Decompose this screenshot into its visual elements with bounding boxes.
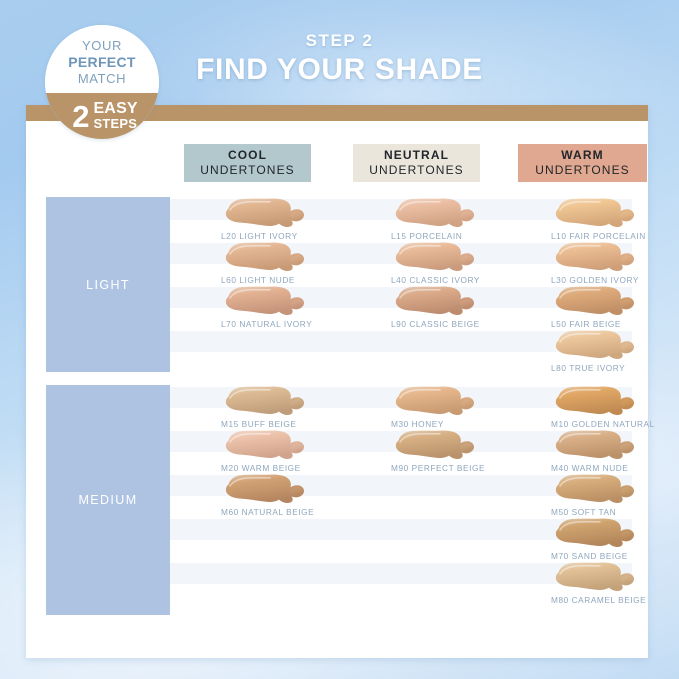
shade-cell[interactable]: M80 CARAMEL BEIGE — [551, 561, 679, 605]
shade-cell[interactable]: L50 FAIR BEIGE — [551, 285, 679, 329]
undertone-header-row: COOL UNDERTONES NEUTRAL UNDERTONES WARM … — [26, 144, 648, 184]
shade-cell[interactable]: L20 LIGHT IVORY — [221, 197, 356, 241]
undertone-header-warm: WARM UNDERTONES — [518, 144, 647, 182]
undertone-header-cool: COOL UNDERTONES — [184, 144, 311, 182]
swatch-icon — [391, 385, 491, 417]
swatch-icon — [391, 285, 491, 317]
shade-label: M40 WARM NUDE — [551, 463, 679, 473]
shade-cell[interactable]: M15 BUFF BEIGE — [221, 385, 356, 429]
shade-label: M15 BUFF BEIGE — [221, 419, 356, 429]
shade-cell[interactable]: M20 WARM BEIGE — [221, 429, 356, 473]
shade-cell[interactable]: M40 WARM NUDE — [551, 429, 679, 473]
undertone-name-warm: WARM — [561, 148, 603, 163]
shade-label: L60 LIGHT NUDE — [221, 275, 356, 285]
swatch-icon — [551, 285, 651, 317]
shade-label: M50 SOFT TAN — [551, 507, 679, 517]
shade-label: L20 LIGHT IVORY — [221, 231, 356, 241]
shade-label: M60 NATURAL BEIGE — [221, 507, 356, 517]
badge-line-2: PERFECT — [68, 54, 135, 71]
badge-bottom-half: 2 EASY STEPS — [45, 93, 159, 139]
group-block-medium: MEDIUM — [46, 385, 170, 615]
shade-label: L40 CLASSIC IVORY — [391, 275, 526, 285]
shade-label: L50 FAIR BEIGE — [551, 319, 679, 329]
swatch-icon — [551, 517, 651, 549]
undertone-sub-cool: UNDERTONES — [200, 163, 295, 178]
swatch-icon — [221, 197, 321, 229]
shade-label: L90 CLASSIC BEIGE — [391, 319, 526, 329]
shade-label: L70 NATURAL IVORY — [221, 319, 356, 329]
swatch-icon — [391, 197, 491, 229]
shade-cell[interactable]: L80 TRUE IVORY — [551, 329, 679, 373]
shade-label: M90 PERFECT BEIGE — [391, 463, 526, 473]
shade-cell[interactable]: M50 SOFT TAN — [551, 473, 679, 517]
swatch-icon — [221, 473, 321, 505]
swatch-icon — [221, 285, 321, 317]
swatch-icon — [221, 429, 321, 461]
shade-cell[interactable]: M30 HONEY — [391, 385, 526, 429]
shade-cell[interactable]: L30 GOLDEN IVORY — [551, 241, 679, 285]
badge-step-number: 2 — [72, 101, 89, 132]
undertone-sub-warm: UNDERTONES — [535, 163, 630, 178]
swatch-icon — [391, 241, 491, 273]
perfect-match-badge: YOUR PERFECT MATCH 2 EASY STEPS — [45, 25, 159, 139]
undertone-name-cool: COOL — [228, 148, 267, 163]
shade-label: L15 PORCELAIN — [391, 231, 526, 241]
badge-line-3: MATCH — [78, 71, 126, 87]
shade-cell[interactable]: M90 PERFECT BEIGE — [391, 429, 526, 473]
shade-cell[interactable]: L60 LIGHT NUDE — [221, 241, 356, 285]
swatch-icon — [551, 561, 651, 593]
swatch-icon — [551, 197, 651, 229]
swatch-icon — [551, 385, 651, 417]
shade-label: L80 TRUE IVORY — [551, 363, 679, 373]
group-block-light: LIGHT — [46, 197, 170, 372]
swatch-icon — [551, 429, 651, 461]
badge-top-half: YOUR PERFECT MATCH — [45, 25, 159, 93]
badge-word-steps: STEPS — [93, 116, 137, 131]
shade-cell[interactable]: L70 NATURAL IVORY — [221, 285, 356, 329]
shade-label: M20 WARM BEIGE — [221, 463, 356, 473]
swatch-icon — [221, 241, 321, 273]
shade-label: M10 GOLDEN NATURAL — [551, 419, 679, 429]
shade-grid: LIGHT MEDIUM L20 LIGHT IVORY L60 LIGHT N… — [26, 197, 648, 617]
undertone-sub-neutral: UNDERTONES — [369, 163, 464, 178]
shade-cell[interactable]: L90 CLASSIC BEIGE — [391, 285, 526, 329]
swatch-icon — [551, 473, 651, 505]
badge-step-words: EASY STEPS — [93, 101, 137, 131]
swatch-icon — [391, 429, 491, 461]
badge-line-1: YOUR — [82, 38, 122, 54]
shade-chart-card: COOL UNDERTONES NEUTRAL UNDERTONES WARM … — [26, 105, 648, 658]
shade-cell[interactable]: L10 FAIR PORCELAIN — [551, 197, 679, 241]
shade-label: M30 HONEY — [391, 419, 526, 429]
shade-cell[interactable]: L40 CLASSIC IVORY — [391, 241, 526, 285]
group-label-medium: MEDIUM — [78, 493, 137, 507]
shade-label: M70 SAND BEIGE — [551, 551, 679, 561]
swatch-icon — [551, 329, 651, 361]
undertone-header-neutral: NEUTRAL UNDERTONES — [353, 144, 480, 182]
badge-word-easy: EASY — [93, 101, 137, 116]
shade-label: L30 GOLDEN IVORY — [551, 275, 679, 285]
shade-cell[interactable]: L15 PORCELAIN — [391, 197, 526, 241]
shade-label: L10 FAIR PORCELAIN — [551, 231, 679, 241]
shade-cell[interactable]: M60 NATURAL BEIGE — [221, 473, 356, 517]
shade-label: M80 CARAMEL BEIGE — [551, 595, 679, 605]
swatch-icon — [221, 385, 321, 417]
shade-cell[interactable]: M10 GOLDEN NATURAL — [551, 385, 679, 429]
undertone-name-neutral: NEUTRAL — [384, 148, 449, 163]
swatch-icon — [551, 241, 651, 273]
shade-cell[interactable]: M70 SAND BEIGE — [551, 517, 679, 561]
group-label-light: LIGHT — [86, 278, 130, 292]
